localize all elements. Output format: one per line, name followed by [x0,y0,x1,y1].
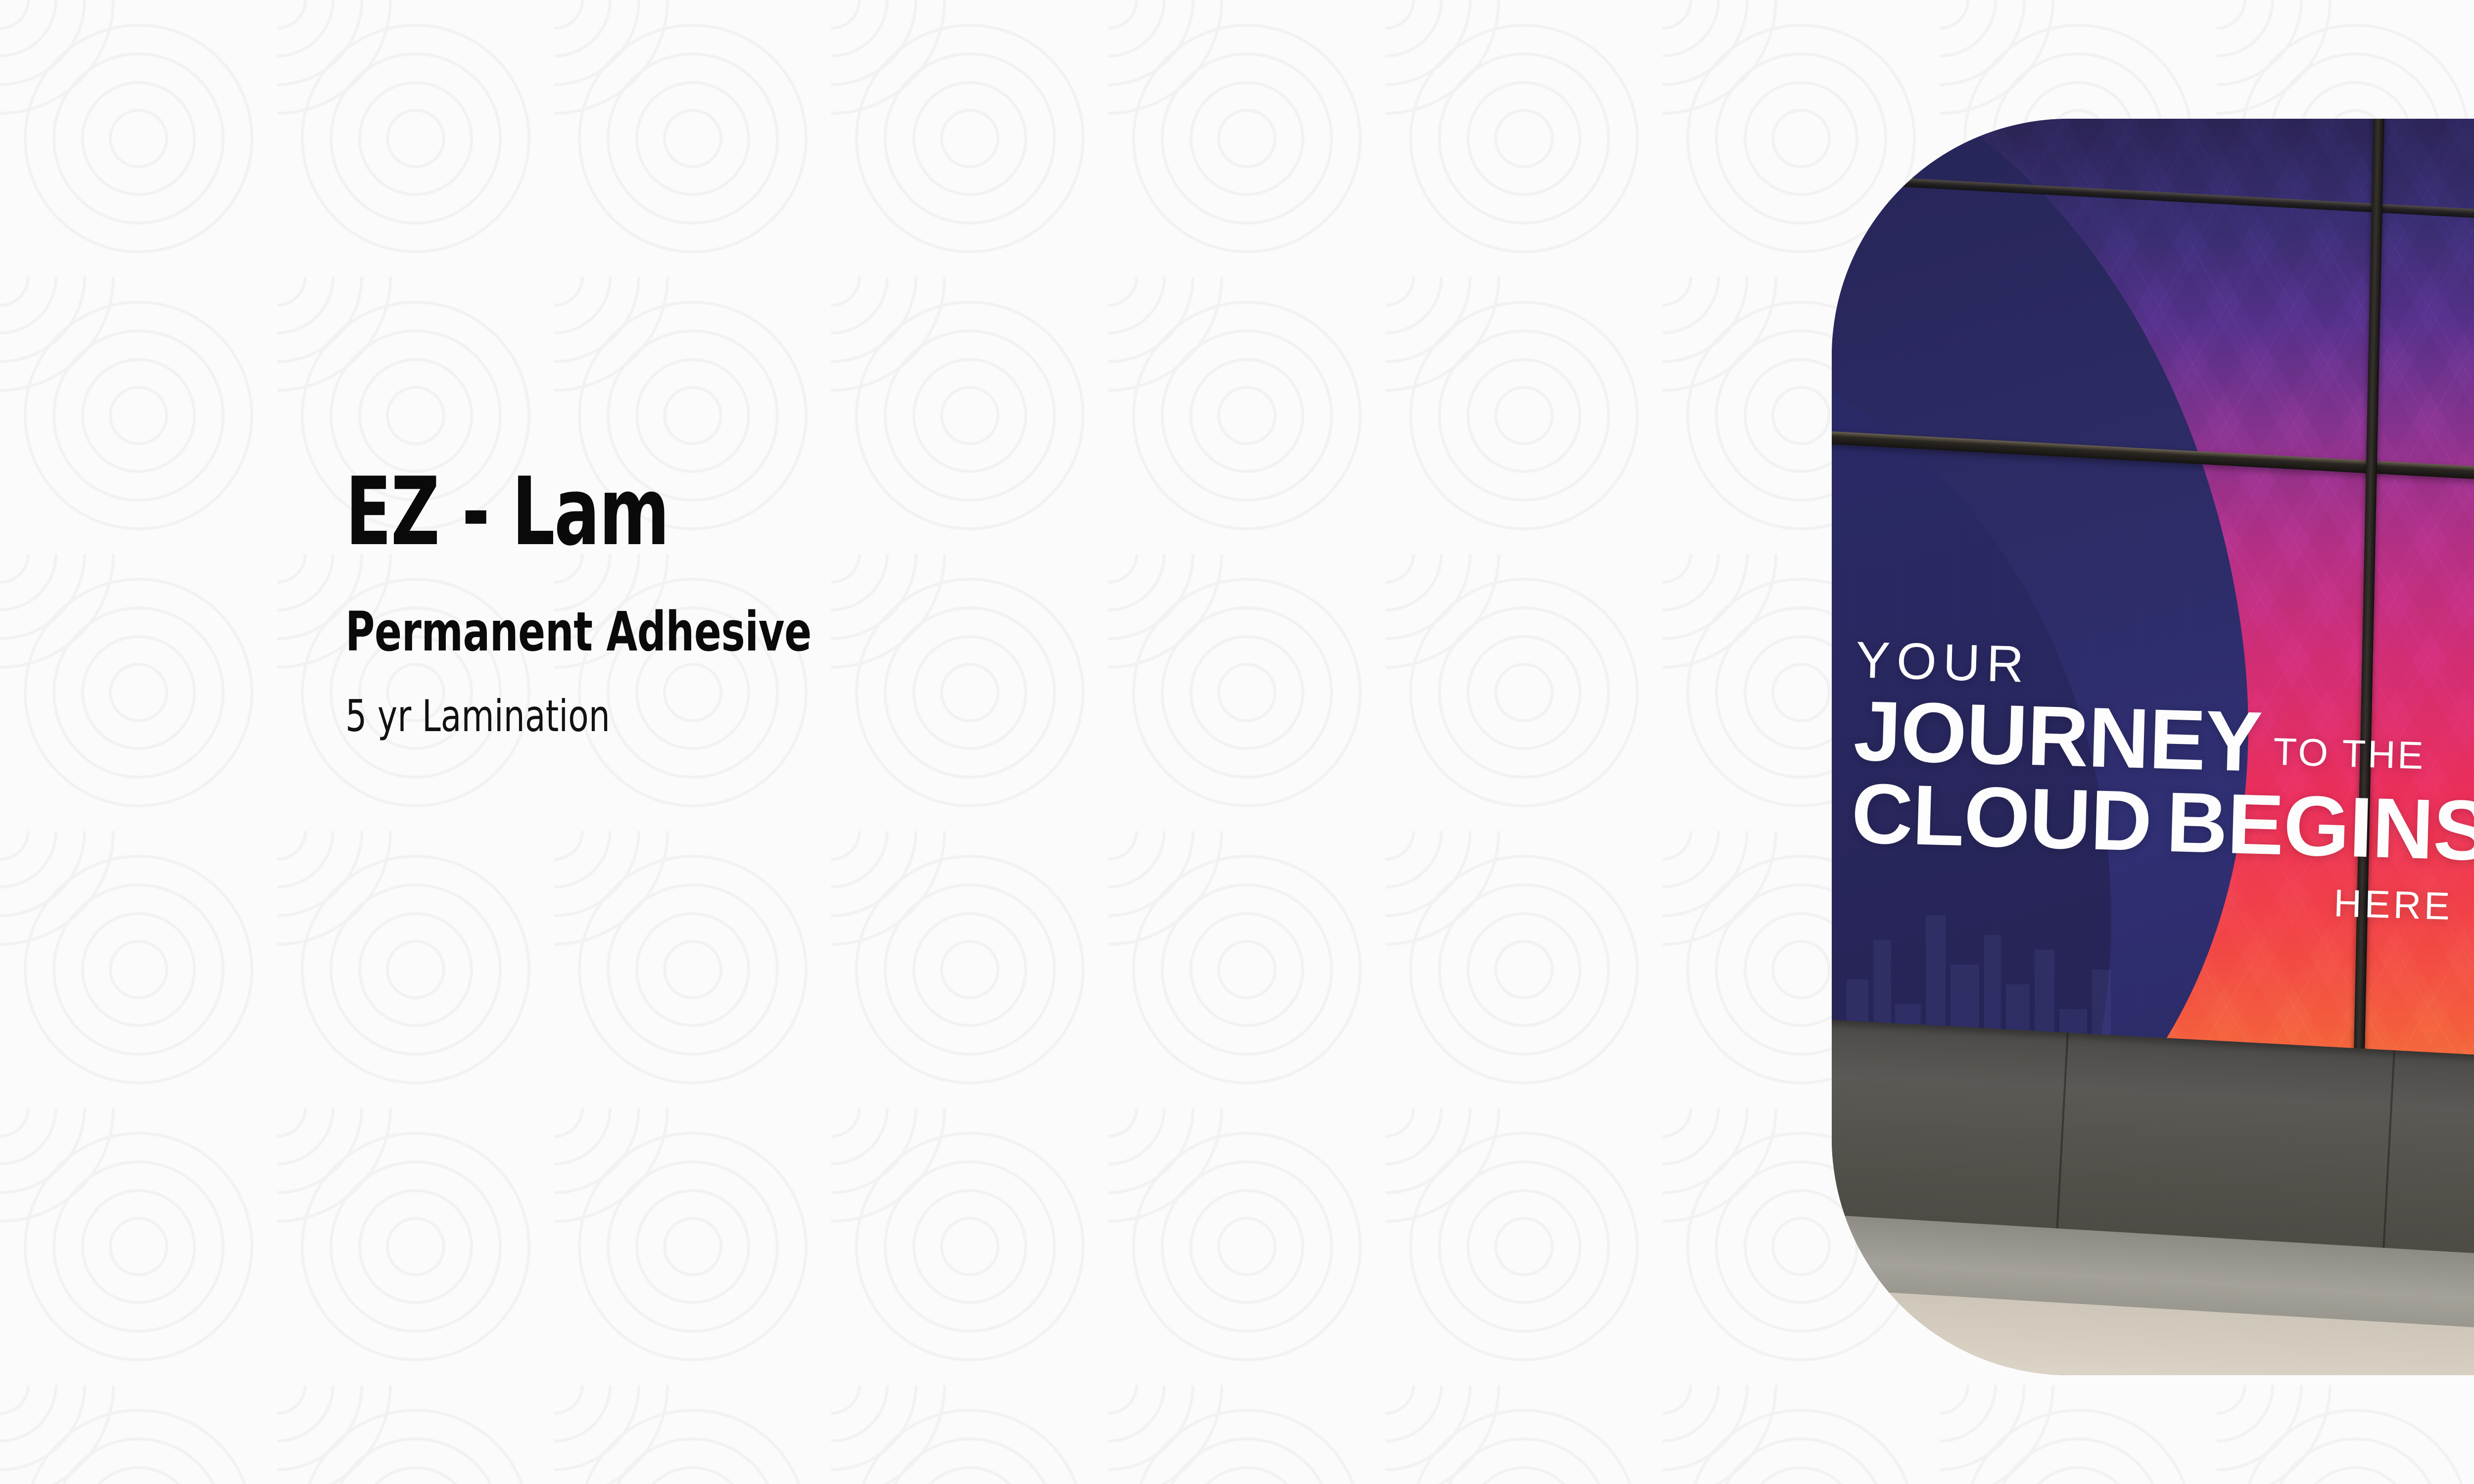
product-subtitle: Permanent Adhesive [345,604,811,659]
window-wrap-headline: YOUR JOURNEY TO THE CLOUD BEGINS HERE [1849,634,2474,930]
wrap-text-begins: BEGINS [2165,782,2474,872]
hero-window-graphic-image: YOUR JOURNEY TO THE CLOUD BEGINS HERE [1832,119,2474,1375]
wrap-text-cloud: CLOUD [1851,773,2153,862]
page-title: EZ - Lam [345,465,800,559]
product-detail-text: 5 yr Lamination [345,695,834,738]
product-text-block: EZ - Lam Permanent Adhesive 5 yr Laminat… [345,465,914,738]
